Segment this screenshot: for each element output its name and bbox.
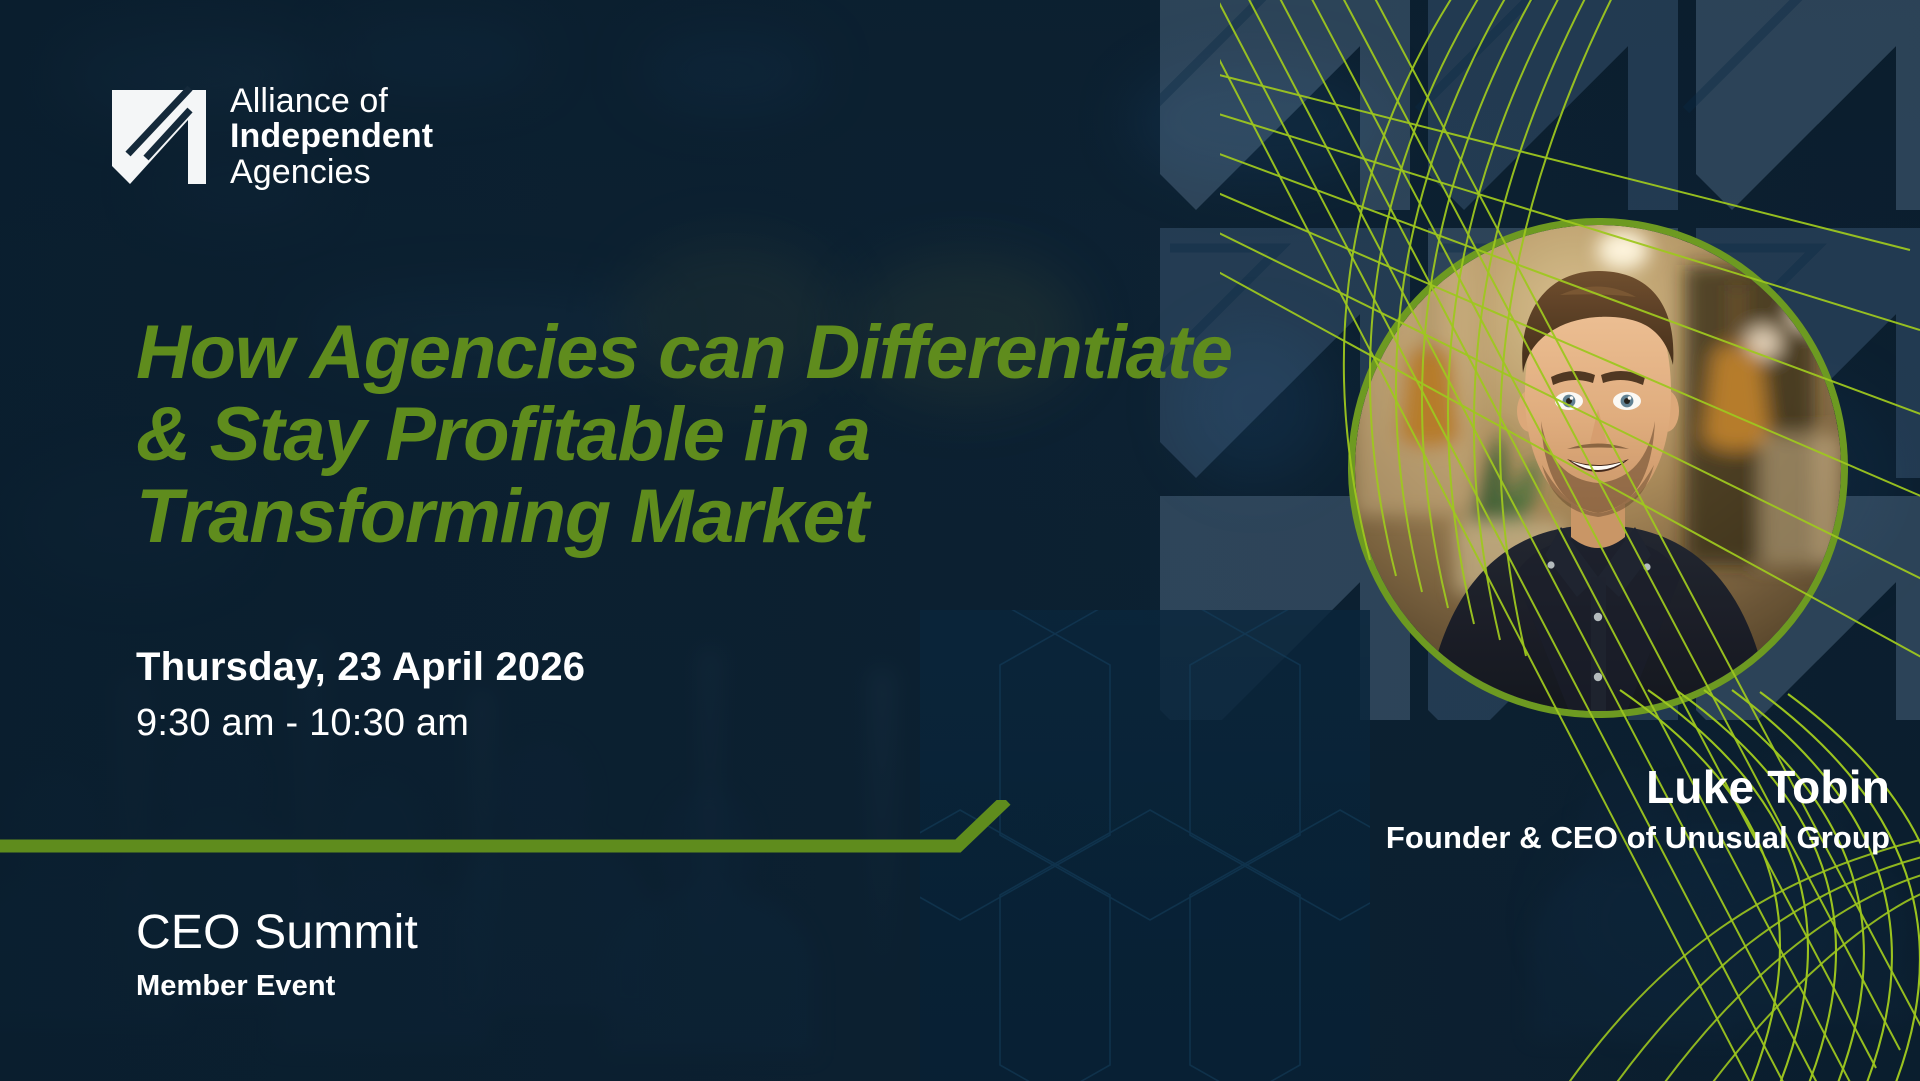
event-schedule: Thursday, 23 April 2026 9:30 am - 10:30 … <box>136 645 585 745</box>
event-title: CEO Summit <box>136 905 418 960</box>
speaker-photo <box>1355 225 1841 711</box>
brand-name-line-3: Agencies <box>230 155 433 190</box>
speaker-caption: Luke Tobin Founder & CEO of Unusual Grou… <box>1010 760 1890 856</box>
brand-logo[interactable]: Alliance of Independent Agencies <box>112 80 433 190</box>
green-accent-rule <box>0 800 1040 870</box>
brand-name-line-2: Independent <box>230 119 433 154</box>
event-date: Thursday, 23 April 2026 <box>136 645 585 690</box>
brand-name: Alliance of Independent Agencies <box>230 80 433 190</box>
speaker-portrait <box>1348 218 1848 718</box>
headline-line-1: How Agencies can Differentiate <box>136 312 1316 394</box>
brand-name-line-1: Alliance of <box>230 84 433 119</box>
speaker-role: Founder & CEO of Unusual Group <box>1010 820 1890 856</box>
event-time: 9:30 am - 10:30 am <box>136 702 585 745</box>
headline-line-2: & Stay Profitable in a <box>136 394 1316 476</box>
headline: How Agencies can Differentiate & Stay Pr… <box>136 312 1316 558</box>
event-promo-graphic: Alliance of Independent Agencies How Age… <box>0 0 1920 1081</box>
event-identity: CEO Summit Member Event <box>136 905 418 1003</box>
event-subtitle: Member Event <box>136 970 418 1003</box>
alliance-arrow-mark-icon <box>112 80 206 184</box>
headline-line-3: Transforming Market <box>136 476 1316 558</box>
speaker-name: Luke Tobin <box>1010 760 1890 814</box>
